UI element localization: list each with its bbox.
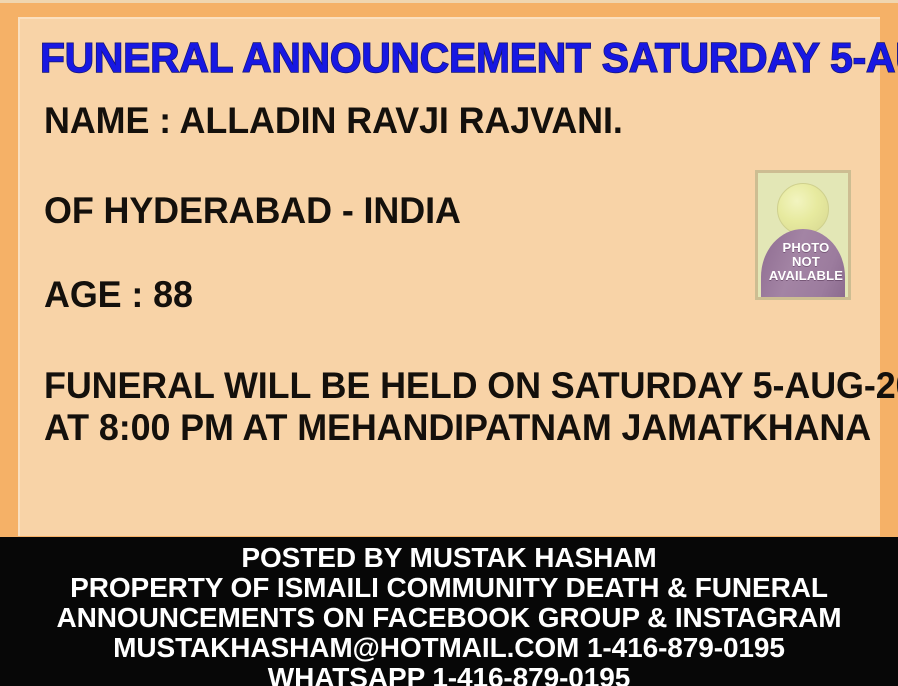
deceased-name-line: NAME : ALLADIN RAVJI RAJVANI.: [44, 101, 623, 141]
poster-footer: POSTED BY MUSTAK HASHAM PROPERTY OF ISMA…: [0, 537, 898, 686]
footer-line-whatsapp: WHATSAPP 1-416-879-0195: [0, 663, 898, 686]
top-edge-hairline: [0, 0, 898, 3]
footer-text-block: POSTED BY MUSTAK HASHAM PROPERTY OF ISMA…: [0, 537, 898, 686]
announcement-panel: FUNERAL ANNOUNCEMENT SATURDAY 5-AUG-2017…: [18, 17, 880, 536]
footer-line-property-of: PROPERTY OF ISMAILI COMMUNITY DEATH & FU…: [0, 573, 898, 603]
photo-not-available-placeholder: PHOTO NOT AVAILABLE: [755, 170, 851, 300]
photo-caption-line-2: NOT: [758, 255, 851, 269]
funeral-details-line-2: AT 8:00 PM AT MEHANDIPATNAM JAMATKHANA: [44, 407, 898, 449]
footer-line-email-phone: MUSTAKHASHAM@HOTMAIL.COM 1-416-879-0195: [0, 633, 898, 663]
footer-line-posted-by: POSTED BY MUSTAK HASHAM: [0, 543, 898, 573]
funeral-announcement-poster: FUNERAL ANNOUNCEMENT SATURDAY 5-AUG-2017…: [0, 0, 898, 686]
photo-caption-line-1: PHOTO: [758, 241, 851, 255]
photo-placeholder-caption: PHOTO NOT AVAILABLE: [758, 241, 851, 283]
funeral-details-block: FUNERAL WILL BE HELD ON SATURDAY 5-AUG-2…: [44, 365, 898, 449]
photo-caption-line-3: AVAILABLE: [758, 269, 851, 283]
deceased-age-line: AGE : 88: [44, 275, 193, 315]
funeral-details-line-1: FUNERAL WILL BE HELD ON SATURDAY 5-AUG-2…: [44, 365, 898, 407]
deceased-city-line: OF HYDERABAD - INDIA: [44, 191, 461, 231]
footer-line-announcements: ANNOUNCEMENTS ON FACEBOOK GROUP & INSTAG…: [0, 603, 898, 633]
page-title: FUNERAL ANNOUNCEMENT SATURDAY 5-AUG-2017: [40, 35, 845, 81]
avatar-head-icon: [777, 183, 829, 235]
